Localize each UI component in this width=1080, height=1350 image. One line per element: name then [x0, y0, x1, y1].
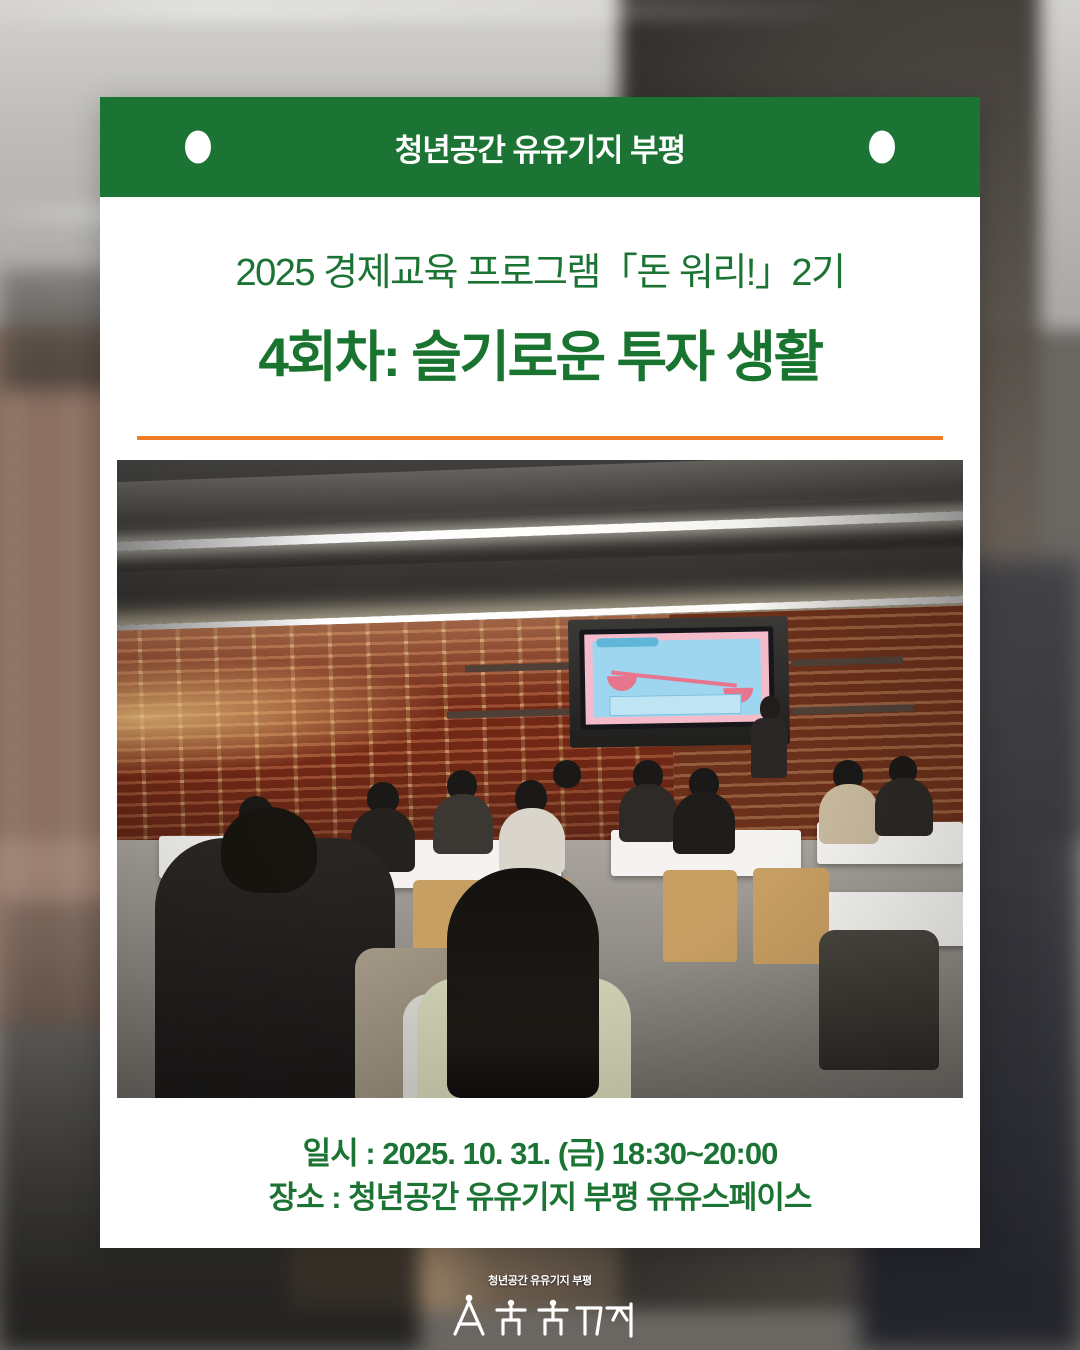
photo-attendee-head — [553, 760, 581, 788]
photo-chair — [753, 868, 829, 964]
program-subtitle: 2025 경제교육 프로그램「돈 워리!」2기 — [140, 241, 940, 296]
footer-logo-caption: 청년공간 유유기지 부평 — [488, 1272, 592, 1288]
dot-icon-right — [869, 131, 895, 164]
footer-logo: 청년공간 유유기지 부평 — [0, 1272, 1080, 1342]
photo-presentation-screen — [579, 626, 775, 729]
event-place-line: 장소 : 청년공간 유유기지 부평 유유스페이스 — [120, 1176, 960, 1220]
title-block: 2025 경제교육 프로그램「돈 워리!」2기 4회차: 슬기로운 투자 생활 — [100, 197, 980, 392]
photo-stool — [819, 930, 939, 1070]
event-date-line: 일시 : 2025. 10. 31. (금) 18:30~20:00 — [120, 1132, 960, 1176]
photo-foreground-person-right-hair — [447, 868, 599, 1098]
photo-presenter-head — [760, 696, 780, 720]
photo-attendee-body — [499, 808, 565, 874]
dot-icon-left — [185, 131, 211, 164]
photo-attendee-body — [819, 784, 879, 844]
photo-attendee-body — [619, 784, 677, 842]
photo-attendee-body — [875, 778, 933, 836]
photo-foreground-person-left-head — [221, 807, 317, 893]
yuyugiji-logo-icon — [445, 1290, 635, 1342]
orange-divider — [137, 436, 943, 440]
photo-attendee-body — [673, 792, 735, 854]
photo-slide-titlebar — [596, 637, 658, 647]
photo-slide-note-box — [609, 694, 741, 716]
event-photo — [117, 460, 963, 1098]
photo-presenter-body — [751, 718, 787, 778]
event-info: 일시 : 2025. 10. 31. (금) 18:30~20:00 장소 : … — [100, 1098, 980, 1220]
card-header: 청년공간 유유기지 부평 — [100, 97, 980, 197]
poster-card: 청년공간 유유기지 부평 2025 경제교육 프로그램「돈 워리!」2기 4회차… — [100, 97, 980, 1248]
session-main-title: 4회차: 슬기로운 투자 생활 — [140, 312, 940, 392]
photo-chair — [663, 870, 737, 962]
header-title: 청년공간 유유기지 부평 — [395, 125, 685, 170]
photo-attendee-body — [433, 794, 493, 854]
